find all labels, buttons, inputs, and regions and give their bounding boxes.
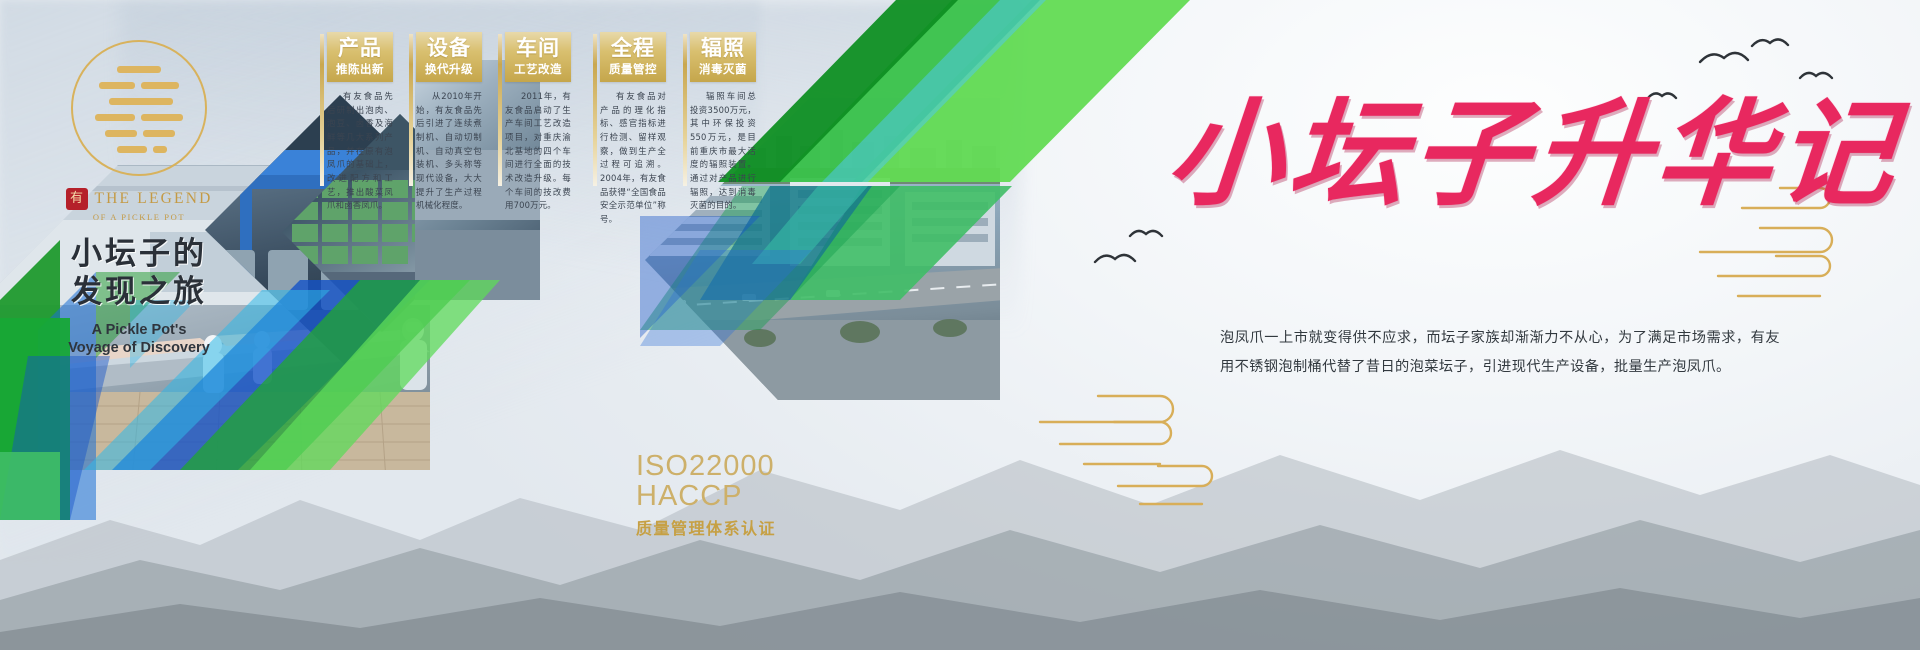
info-card-workshop[interactable]: 车间 工艺改造 2011年，有友食品启动了生产车间工艺改造项目，对重庆渝北基地的… (505, 32, 571, 213)
card-body-text: 2011年，有友食品启动了生产车间工艺改造项目，对重庆渝北基地的四个车间进行全面… (505, 90, 571, 212)
hero-title: 小坛子升华记 (1163, 96, 1905, 212)
card-accent-bar (498, 34, 502, 186)
info-card-quality[interactable]: 全程 质量管控 有友食品对产品的理化指标、感官指标进行检测、留样观察，做到生产全… (600, 32, 666, 226)
info-card-irradiation[interactable]: 辐照 消毒灭菌 辐照车间总投资3500万元，其中环保投资550万元，是目前重庆市… (690, 32, 756, 213)
card-heading-block: 设备 换代升级 (416, 32, 482, 82)
bird-icon (1700, 53, 1748, 62)
card-heading: 产品 (331, 37, 389, 59)
certification-cn-line: 质量管理体系认证 (636, 515, 776, 539)
card-subheading: 消毒灭菌 (694, 61, 752, 77)
card-accent-bar (683, 34, 687, 186)
hero-paragraph: 泡凤爪一上市就变得供不应求，而坛子家族却渐渐力不从心，为了满足市场需求，有友用不… (1220, 324, 1780, 382)
card-heading-block: 产品 推陈出新 (327, 32, 393, 82)
brand-logo-block: 有 THE LEGEND OF A PICKLE POT 小坛子的 发现之旅 A… (34, 40, 244, 358)
brand-title-cn-line2: 发现之旅 (34, 274, 244, 312)
bird-icon (1130, 231, 1162, 236)
info-card-equipment[interactable]: 设备 换代升级 从2010年开始，有友食品先后引进了连续煮制机、自动切制机、自动… (416, 32, 482, 213)
chop-seal-icon: 有 (66, 188, 88, 210)
bird-icon (1095, 255, 1135, 262)
brand-title-cn-line1: 小坛子的 (34, 236, 244, 274)
card-accent-bar (593, 34, 597, 186)
seal-emblem-icon (71, 40, 207, 176)
card-heading-block: 全程 质量管控 (600, 32, 666, 82)
card-subheading: 推陈出新 (331, 61, 389, 77)
card-heading: 车间 (509, 37, 567, 59)
card-subheading: 质量管控 (604, 61, 662, 77)
brand-english-lockup: 有 THE LEGEND (34, 188, 244, 210)
ink-mountains (0, 450, 1920, 650)
brand-name-en-sub: OF A PICKLE POT (34, 212, 244, 222)
card-accent-bar (320, 34, 324, 186)
card-body-text: 有友食品先后研制出泡肉、泡豆、卤香及海鲜等几大系列产品，并在原有泡凤爪的基础上，… (327, 90, 393, 212)
poster-canvas: 有 THE LEGEND OF A PICKLE POT 小坛子的 发现之旅 A… (0, 0, 1920, 650)
bird-icon (1752, 39, 1788, 46)
certification-iso-line: ISO22000 (636, 452, 776, 482)
card-body-text: 从2010年开始，有友食品先后引进了连续煮制机、自动切制机、自动真空包装机、多头… (416, 90, 482, 212)
card-body-text: 有友食品对产品的理化指标、感官指标进行检测、留样观察，做到生产全过程可追溯。20… (600, 90, 666, 226)
brand-name-en: THE LEGEND (95, 190, 213, 208)
card-subheading: 工艺改造 (509, 61, 567, 77)
bird-icon (1800, 73, 1832, 78)
card-accent-bar (409, 34, 413, 186)
card-heading-block: 车间 工艺改造 (505, 32, 571, 82)
certification-haccp-line: HACCP (636, 482, 776, 512)
brand-title-en: A Pickle Pot's Voyage of Discovery (34, 321, 244, 358)
info-card-product[interactable]: 产品 推陈出新 有友食品先后研制出泡肉、泡豆、卤香及海鲜等几大系列产品，并在原有… (327, 32, 393, 213)
card-subheading: 换代升级 (420, 61, 478, 77)
card-heading: 辐照 (694, 37, 752, 59)
brand-title-en-line1: A Pickle Pot's (34, 321, 244, 340)
card-heading: 设备 (420, 37, 478, 59)
brand-title-cn: 小坛子的 发现之旅 (34, 236, 244, 312)
card-body-text: 辐照车间总投资3500万元，其中环保投资550万元，是目前重庆市最大活度的辐照装… (690, 90, 756, 212)
card-heading: 全程 (604, 37, 662, 59)
brand-title-en-line2: Voyage of Discovery (34, 339, 244, 358)
card-heading-block: 辐照 消毒灭菌 (690, 32, 756, 82)
certification-block: ISO22000 HACCP 质量管理体系认证 (636, 452, 776, 539)
